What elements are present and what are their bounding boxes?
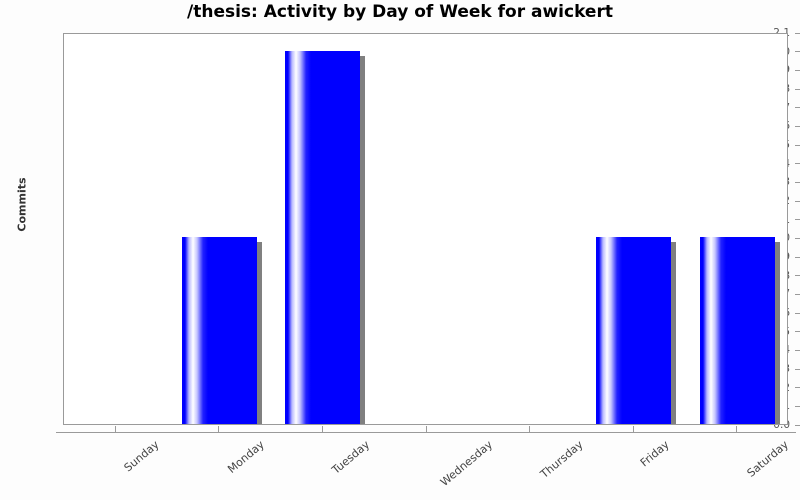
- y-axis-tick-mark: [795, 107, 800, 108]
- bar[interactable]: [596, 237, 671, 424]
- x-axis-tick-mark: [529, 426, 530, 432]
- y-axis-tick-mark: [795, 219, 800, 220]
- bar[interactable]: [182, 237, 257, 424]
- y-axis-tick-mark: [795, 425, 800, 426]
- x-axis-tick-label: Tuesday: [329, 438, 372, 477]
- y-axis-tick-mark: [795, 369, 800, 370]
- y-axis-title: Commits: [16, 145, 29, 265]
- y-axis-tick-mark: [795, 350, 800, 351]
- x-axis-tick-mark: [633, 426, 634, 432]
- y-axis-tick-mark: [795, 51, 800, 52]
- y-axis-tick-mark: [795, 406, 800, 407]
- x-axis-tick-mark: [218, 426, 219, 432]
- x-axis-tick-label: Sunday: [121, 438, 161, 474]
- bar[interactable]: [285, 51, 360, 424]
- y-axis-tick-mark: [795, 182, 800, 183]
- y-axis-tick-mark: [795, 331, 800, 332]
- x-axis-tick-mark: [736, 426, 737, 432]
- x-axis-tick-label: Monday: [226, 438, 268, 476]
- y-axis-tick-mark: [795, 201, 800, 202]
- x-axis-line: [56, 432, 796, 433]
- y-axis-tick-mark: [795, 257, 800, 258]
- y-axis-tick-mark: [795, 313, 800, 314]
- y-axis-tick-mark: [795, 387, 800, 388]
- y-axis-tick-mark: [795, 294, 800, 295]
- y-axis-tick-mark: [795, 33, 800, 34]
- x-axis-tick-label: Thursday: [538, 438, 586, 481]
- plot-inner: [64, 34, 787, 424]
- bar[interactable]: [700, 237, 775, 424]
- plot-area: [63, 33, 788, 425]
- y-axis-tick-mark: [795, 89, 800, 90]
- y-axis-tick-mark: [795, 163, 800, 164]
- y-axis-tick-mark: [795, 70, 800, 71]
- x-axis-tick-mark: [322, 426, 323, 432]
- chart-container: /thesis: Activity by Day of Week for awi…: [0, 0, 800, 500]
- y-axis-tick-mark: [795, 238, 800, 239]
- x-axis-tick-label: Wednesday: [437, 438, 494, 489]
- x-axis-tick-mark: [115, 426, 116, 432]
- x-axis-tick-label: Saturday: [745, 438, 791, 480]
- x-axis-tick-label: Friday: [637, 438, 671, 469]
- y-axis-tick-mark: [795, 145, 800, 146]
- chart-title: /thesis: Activity by Day of Week for awi…: [0, 2, 800, 22]
- x-axis-tick-mark: [426, 426, 427, 432]
- y-axis-tick-mark: [795, 275, 800, 276]
- y-axis-tick-mark: [795, 126, 800, 127]
